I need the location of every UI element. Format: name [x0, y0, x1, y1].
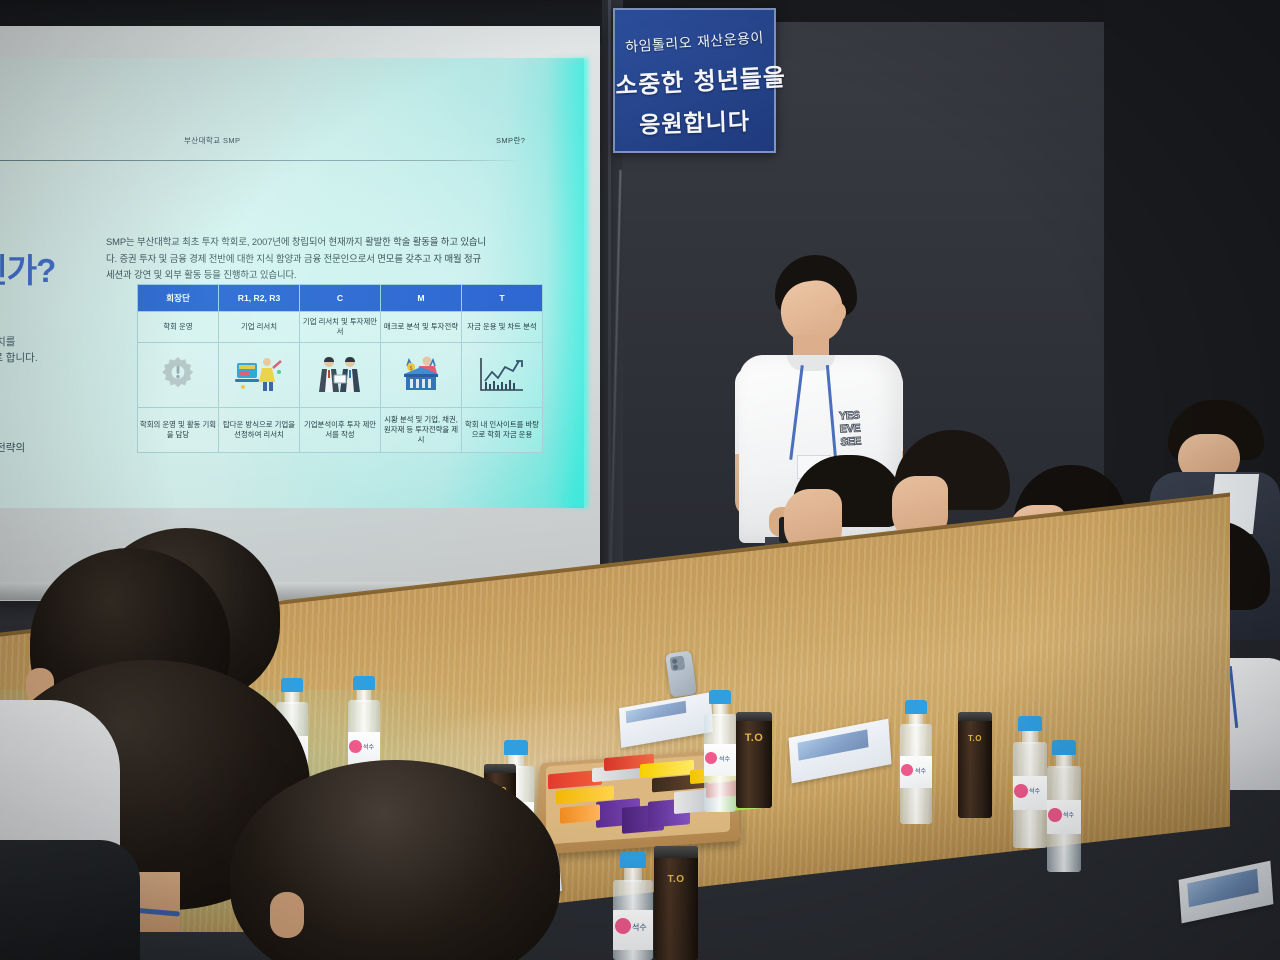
bottle-brand: 석수	[363, 742, 374, 751]
table-desc-4: 학회 내 인사이트를 바탕으로 학회 자금 운용	[462, 408, 543, 453]
tshirt-graphic-line-2: EVE	[839, 422, 860, 435]
foreground-head-4	[230, 760, 560, 960]
heart-icon	[705, 752, 717, 764]
bottle-cap	[353, 676, 375, 690]
table-role-2: 기업 리서치 및 투자제안서	[300, 312, 381, 343]
bottle-cap	[1052, 740, 1076, 755]
bottle-cap	[504, 740, 528, 755]
presentation-room-photo: 하임톨리오 재산운용이 소중한 청년들을 응원합니다 부산대학교 SMP SMP…	[0, 0, 1280, 960]
banner-line-2: 소중한 청년들을	[614, 58, 775, 101]
banner-line-3: 응원합니다	[614, 101, 774, 141]
coffee-brand: T.O	[958, 734, 992, 743]
coffee-lid	[736, 712, 772, 721]
wall-banner: 하임톨리오 재산운용이 소중한 청년들을 응원합니다	[613, 8, 776, 153]
table-desc-row: 학회의 운영 및 활동 기획을 담당 탑다운 방식으로 기업을 선정하여 리서치…	[138, 408, 543, 453]
heart-icon	[1048, 808, 1062, 822]
coffee-brand: T.O	[654, 874, 698, 885]
table-header-3: M	[381, 285, 462, 312]
table-role-4: 자금 운용 및 차트 분석	[462, 312, 543, 343]
two-businessmen-icon	[300, 343, 381, 408]
coffee-lid	[654, 846, 698, 858]
ear	[270, 892, 304, 938]
table-icon-row: $	[138, 343, 543, 408]
bottle-cap	[1018, 716, 1042, 731]
table-desc-1: 탑다운 방식으로 기업을 선정하여 리서치	[219, 408, 300, 453]
bottle-brand: 석수	[915, 766, 926, 775]
coffee-bottle[interactable]: T.O	[958, 712, 992, 818]
table-header-4: T	[462, 285, 543, 312]
table-role-row: 학회 운영 기업 리서치 기업 리서치 및 투자제안서 매크로 분석 및 투자전…	[138, 312, 543, 343]
table-desc-3: 시황 분석 및 기업, 채권, 원자재 등 투자전략을 제시	[381, 408, 462, 453]
bottle-cap	[620, 852, 646, 868]
tshirt-graphic-line-3: SEE	[840, 435, 861, 448]
tshirt-graphic-line-1: YES	[839, 409, 860, 422]
heart-icon	[349, 740, 362, 753]
gear-exclamation-icon	[138, 343, 219, 408]
bottle-brand: 석수	[719, 754, 730, 763]
table-desc-0: 학회의 운영 및 활동 기획을 담당	[138, 408, 219, 453]
table-header-0: 회장단	[138, 285, 219, 312]
heart-icon	[901, 764, 913, 776]
table-header-row: 회장단 R1, R2, R3 C M T	[138, 285, 543, 312]
heart-icon	[615, 918, 631, 934]
water-bottle[interactable]: 석수	[608, 852, 658, 960]
phone-camera-icon	[670, 655, 686, 671]
heart-icon	[1014, 784, 1028, 798]
foreground-dark-shirt	[0, 840, 140, 960]
table-header-1: R1, R2, R3	[219, 285, 300, 312]
slide-role-table: 회장단 R1, R2, R3 C M T 학회 운영 기업 리서치 기업 리서치…	[137, 284, 543, 453]
presenter-ear	[833, 303, 846, 321]
banner-line-1: 하임톨리오 재산운용이	[614, 26, 774, 57]
bottle-cap	[905, 700, 927, 714]
chart-uptrend-icon	[462, 343, 543, 408]
coffee-lid	[958, 712, 992, 721]
coffee-brand: T.O	[736, 732, 772, 744]
table-role-0: 학회 운영	[138, 312, 219, 343]
bottle-brand: 석수	[632, 922, 647, 933]
bottle-brand: 석수	[1029, 786, 1040, 795]
water-bottle[interactable]: 석수	[700, 690, 740, 812]
water-bottle[interactable]: 석수	[896, 700, 936, 824]
bottle-brand: 석수	[1063, 810, 1074, 819]
table-role-1: 기업 리서치	[219, 312, 300, 343]
coffee-bottle[interactable]: T.O	[736, 712, 772, 808]
table-desc-2: 기업분석이후 투자 제안서를 작성	[300, 408, 381, 453]
bank-money-icon: $	[381, 343, 462, 408]
analyst-laptop-icon	[219, 343, 300, 408]
coffee-bottle[interactable]: T.O	[654, 846, 698, 960]
water-bottle[interactable]: 석수	[1042, 740, 1086, 872]
table-header-2: C	[300, 285, 381, 312]
table-role-3: 매크로 분석 및 투자전략	[381, 312, 462, 343]
bottle-cap	[709, 690, 731, 704]
